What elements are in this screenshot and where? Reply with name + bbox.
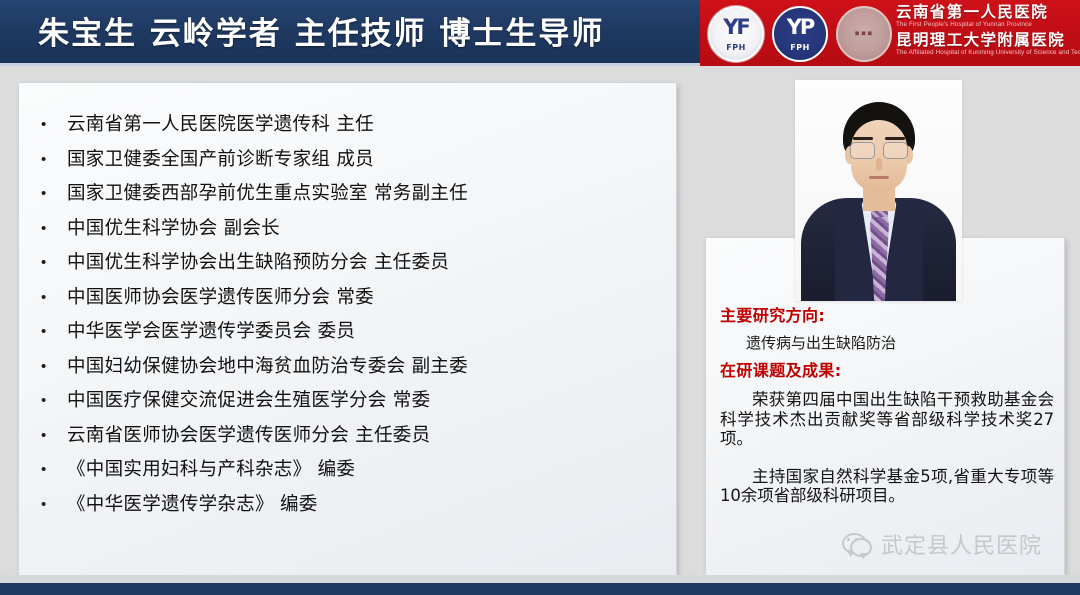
- wechat-watermark: 武定县人民医院: [842, 528, 1042, 560]
- wechat-dot-2: [855, 538, 858, 541]
- bullet-dot-icon: •: [41, 489, 67, 520]
- list-item: •国家卫健委西部孕前优生重点实验室 常务副主任: [41, 178, 666, 209]
- credential-label: 中国医疗保健交流促进会生殖医学分会 常委: [67, 385, 430, 416]
- watermark-label: 武定县人民医院: [881, 528, 1042, 560]
- photo-eyeglasses: [849, 142, 909, 157]
- photo-nose: [876, 158, 882, 171]
- credential-label: 中国妇幼保健协会地中海贫血防治专委会 副主委: [67, 351, 468, 382]
- credentials-card: •云南省第一人民医院医学遗传科 主任•国家卫健委全国产前诊断专家组 成员•国家卫…: [18, 82, 677, 577]
- credential-label: 中国优生科学协会出生缺陷预防分会 主任委员: [67, 247, 449, 278]
- bullet-dot-icon: •: [41, 454, 67, 485]
- bullet-dot-icon: •: [41, 385, 67, 416]
- credential-label: 国家卫健委全国产前诊断专家组 成员: [67, 144, 374, 175]
- kunming-university-seal-icon: ▪▪▪: [836, 6, 892, 62]
- achievement-paragraph-2: 主持国家自然科学基金5项,省重大专项等10余项省部级科研项目。: [720, 467, 1054, 506]
- list-item: •《中华医学遗传学杂志》 编委: [41, 489, 666, 520]
- credential-label: 国家卫健委西部孕前优生重点实验室 常务副主任: [67, 178, 468, 209]
- list-item: •中国优生科学协会出生缺陷预防分会 主任委员: [41, 247, 666, 278]
- seal-mark-yf: YF: [710, 17, 762, 38]
- bottom-gap: [0, 575, 1080, 583]
- wechat-dot-1: [847, 538, 850, 541]
- photo-mouth: [869, 176, 889, 179]
- bullet-dot-icon: •: [41, 213, 67, 244]
- bullet-dot-icon: •: [41, 247, 67, 278]
- bullet-dot-icon: •: [41, 351, 67, 382]
- wechat-icon: [842, 533, 872, 555]
- yunnan-first-peoples-hospital-seal-icon: YF FPH: [708, 6, 764, 62]
- slide-header: 朱宝生 云岭学者 主任技师 博士生导师 YF FPH YP FPH ▪▪▪ 云南…: [0, 0, 1080, 63]
- bullet-dot-icon: •: [41, 316, 67, 347]
- hospital-name-cn-1: 云南省第一人民医院: [896, 4, 1080, 20]
- bottom-bar: [0, 583, 1080, 595]
- credential-label: 云南省第一人民医院医学遗传科 主任: [67, 109, 374, 140]
- projects-heading: 在研课题及成果:: [720, 361, 1054, 380]
- credential-label: 中国优生科学协会 副会长: [67, 213, 280, 244]
- list-item: •中华医学会医学遗传学委员会 委员: [41, 316, 666, 347]
- list-item: •中国医师协会医学遗传医师分会 常委: [41, 282, 666, 313]
- bullet-dot-icon: •: [41, 282, 67, 313]
- credential-label: 中华医学会医学遗传学委员会 委员: [67, 316, 355, 347]
- credential-label: 云南省医师协会医学遗传医师分会 主任委员: [67, 420, 430, 451]
- seal-sub-fph: FPH: [710, 44, 762, 52]
- list-item: •《中国实用妇科与产科杂志》 编委: [41, 454, 666, 485]
- list-item: •云南省第一人民医院医学遗传科 主任: [41, 109, 666, 140]
- profile-body: 主要研究方向: 遗传病与出生缺陷防治 在研课题及成果: 荣获第四届中国出生缺陷干…: [720, 306, 1054, 506]
- credential-label: 《中国实用妇科与产科杂志》 编委: [67, 454, 355, 485]
- header-logo-band: YF FPH YP FPH ▪▪▪ 云南省第一人民医院 The First Pe…: [700, 0, 1080, 66]
- seal-emblem-dots: ▪▪▪: [838, 26, 890, 41]
- page-title: 朱宝生 云岭学者 主任技师 博士生导师: [38, 8, 604, 53]
- bullet-dot-icon: •: [41, 420, 67, 451]
- hospital-name-cn-2: 昆明理工大学附属医院: [896, 32, 1080, 48]
- slide-canvas: 朱宝生 云岭学者 主任技师 博士生导师 YF FPH YP FPH ▪▪▪ 云南…: [0, 0, 1080, 595]
- list-item: •国家卫健委全国产前诊断专家组 成员: [41, 144, 666, 175]
- achievement-paragraph-1: 荣获第四届中国出生缺陷干预救助基金会科学技术杰出贡献奖等省部级科学技术奖27项。: [720, 390, 1054, 448]
- credentials-list: •云南省第一人民医院医学遗传科 主任•国家卫健委全国产前诊断专家组 成员•国家卫…: [41, 109, 666, 523]
- header-title-band: 朱宝生 云岭学者 主任技师 博士生导师: [0, 0, 700, 63]
- research-direction-heading: 主要研究方向:: [720, 306, 1054, 325]
- bullet-dot-icon: •: [41, 109, 67, 140]
- list-item: •中国优生科学协会 副会长: [41, 213, 666, 244]
- hospital-name-block: 云南省第一人民医院 The First People's Hospital of…: [896, 4, 1080, 59]
- bullet-dot-icon: •: [41, 144, 67, 175]
- photo-eyebrow-left: [853, 137, 873, 140]
- photo-eyebrow-right: [885, 137, 905, 140]
- bullet-dot-icon: •: [41, 178, 67, 209]
- credential-label: 《中华医学遗传学杂志》 编委: [67, 489, 318, 520]
- badge-mark-yp: YP: [774, 17, 826, 38]
- hospital-name-en-2: The Affiliated Hospital of Kunming Unive…: [896, 48, 1080, 57]
- hospital-name-en-1: The First People's Hospital of Yunnan Pr…: [896, 20, 1080, 29]
- list-item: •中国妇幼保健协会地中海贫血防治专委会 副主委: [41, 351, 666, 382]
- credential-label: 中国医师协会医学遗传医师分会 常委: [67, 282, 374, 313]
- portrait-photo: [795, 80, 962, 301]
- wechat-bubble-front: [850, 538, 872, 557]
- research-direction-value: 遗传病与出生缺陷防治: [746, 334, 1054, 352]
- list-item: •云南省医师协会医学遗传医师分会 主任委员: [41, 420, 666, 451]
- yp-fph-badge-icon: YP FPH: [772, 6, 828, 62]
- badge-sub-fph: FPH: [774, 44, 826, 52]
- list-item: •中国医疗保健交流促进会生殖医学分会 常委: [41, 385, 666, 416]
